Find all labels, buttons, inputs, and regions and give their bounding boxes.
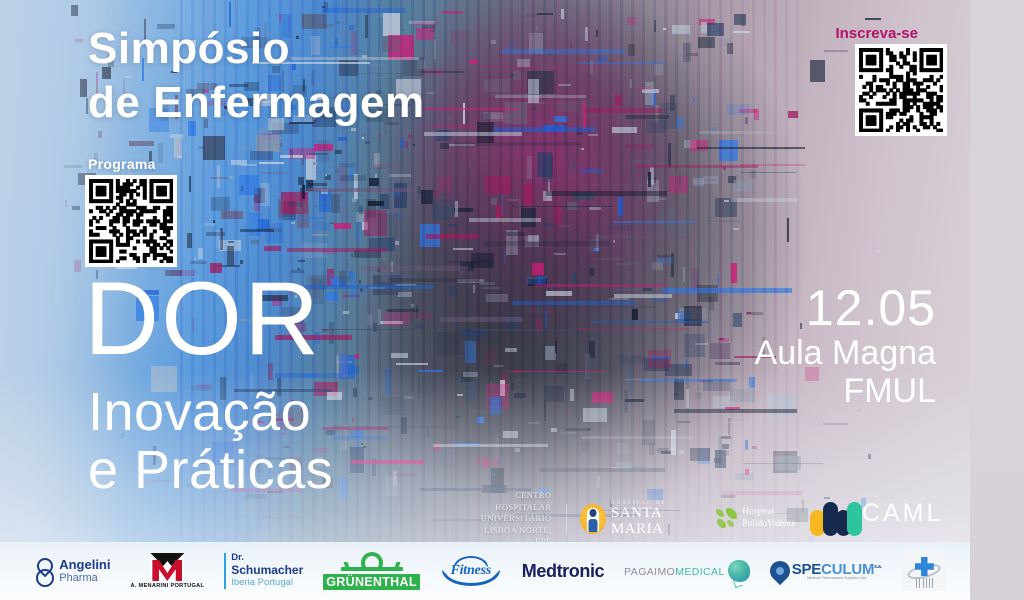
logo-divider — [566, 504, 567, 534]
sponsor-a-menarini-portugal: A. MENARINI PORTUGAL — [130, 553, 204, 589]
programa-qr-code[interactable] — [85, 175, 177, 267]
logo-hospital-pulido-valente: Hospital PulidoValente — [716, 507, 795, 531]
logo-hospital-santa-maria: HOSPITAL DE SANTA MARIA — [580, 501, 702, 538]
chuln-line-2: UNIVERSITÁRIO — [470, 513, 552, 524]
sponsor-health-cross — [902, 551, 946, 591]
pulido-valente-line-1: Hospital — [742, 507, 795, 519]
santa-maria-emblem-icon — [580, 504, 606, 534]
speculum-suffix: s.a. — [874, 564, 882, 570]
event-date: 12.05 — [755, 282, 936, 334]
menarini-m-icon — [150, 553, 184, 581]
caml-m-mark-icon — [810, 502, 855, 536]
caml-name: CAML — [862, 501, 950, 526]
event-title-line-2: de Enfermagem — [88, 76, 425, 130]
event-title: Simpósio de Enfermagem — [88, 22, 425, 129]
venue-line-2: FMUL — [755, 372, 936, 410]
sponsor-angelini-pharma: Angelini Pharma — [34, 558, 110, 584]
register-qr-code[interactable] — [855, 44, 947, 136]
programa-label: Programa — [88, 156, 156, 172]
page-margin-strip — [970, 0, 1024, 600]
logo-caml: CAML CENTRO ACADÉMICO DE MEDICINA DE LIS… — [810, 501, 950, 536]
date-venue-block: 12.05 Aula Magna FMUL — [755, 282, 936, 410]
brain-icon — [728, 560, 750, 582]
schumacher-rule — [224, 553, 226, 589]
menarini-caption: A. MENARINI PORTUGAL — [130, 583, 204, 589]
event-title-line-1: Simpósio — [88, 22, 425, 76]
register-label-line-1: Inscreva-se — [718, 24, 918, 44]
logo-chuln: CENTRO HOSPITALAR UNIVERSITÁRIO LISBOA N… — [470, 490, 552, 547]
chuln-line-1: CENTRO HOSPITALAR — [470, 490, 552, 513]
theme-subtitle-line-1: Inovação — [88, 385, 311, 439]
sponsor-logo-bar: Angelini Pharma A. MENARINI PORTUGAL Dr.… — [0, 542, 970, 600]
angelini-sub: Pharma — [59, 572, 110, 584]
medical-cross-orbit-icon — [902, 551, 946, 591]
theme-main-title: DOR — [84, 272, 321, 368]
speculum-eye-icon — [766, 557, 794, 585]
angelini-droplet-icon — [34, 558, 54, 584]
fitness-swoosh-icon: Fitness — [440, 556, 502, 586]
schumacher-line-3: Iberia Portugal — [231, 577, 303, 588]
schumacher-line-2: Schumacher — [231, 564, 303, 577]
caml-tagline: CENTRO ACADÉMICO DE MEDICINA DE LISBOA — [862, 529, 950, 536]
sponsor-dr-schumacher: Dr. Schumacher Iberia Portugal — [224, 553, 303, 589]
pagaimo-name-part-2: MEDICAL — [675, 566, 724, 578]
institutional-logo-row: CENTRO HOSPITALAR UNIVERSITÁRIO LISBOA N… — [470, 496, 950, 542]
sponsor-fitness: Fitness — [440, 556, 502, 586]
grunenthal-scales-icon — [341, 552, 403, 573]
sponsor-medtronic: Medtronic — [522, 561, 604, 582]
pulido-valente-line-2: PulidoValente — [742, 519, 795, 531]
poster-canvas: Simpósio de Enfermagem Programa Inscreva… — [0, 0, 970, 600]
pagaimo-name-part-1: PAGAIMO — [624, 566, 675, 578]
venue-line-1: Aula Magna — [755, 334, 936, 372]
sponsor-pagaimo-medical: PAGAIMOMEDICAL — [624, 560, 750, 582]
angelini-name: Angelini — [59, 558, 110, 572]
poster-screenshot: Simpósio de Enfermagem Programa Inscreva… — [0, 0, 1024, 600]
sponsor-speculum: SPECULUMs.a. Medical Performance Supplie… — [770, 561, 882, 581]
sponsor-grunenthal: GRÜNENTHAL — [323, 552, 420, 590]
medtronic-name: Medtronic — [522, 561, 604, 582]
grunenthal-name: GRÜNENTHAL — [323, 574, 420, 590]
leaf-icon — [716, 508, 738, 530]
theme-subtitle-line-2: e Práticas — [88, 443, 333, 497]
santa-maria-name: SANTA MARIA — [611, 506, 702, 538]
